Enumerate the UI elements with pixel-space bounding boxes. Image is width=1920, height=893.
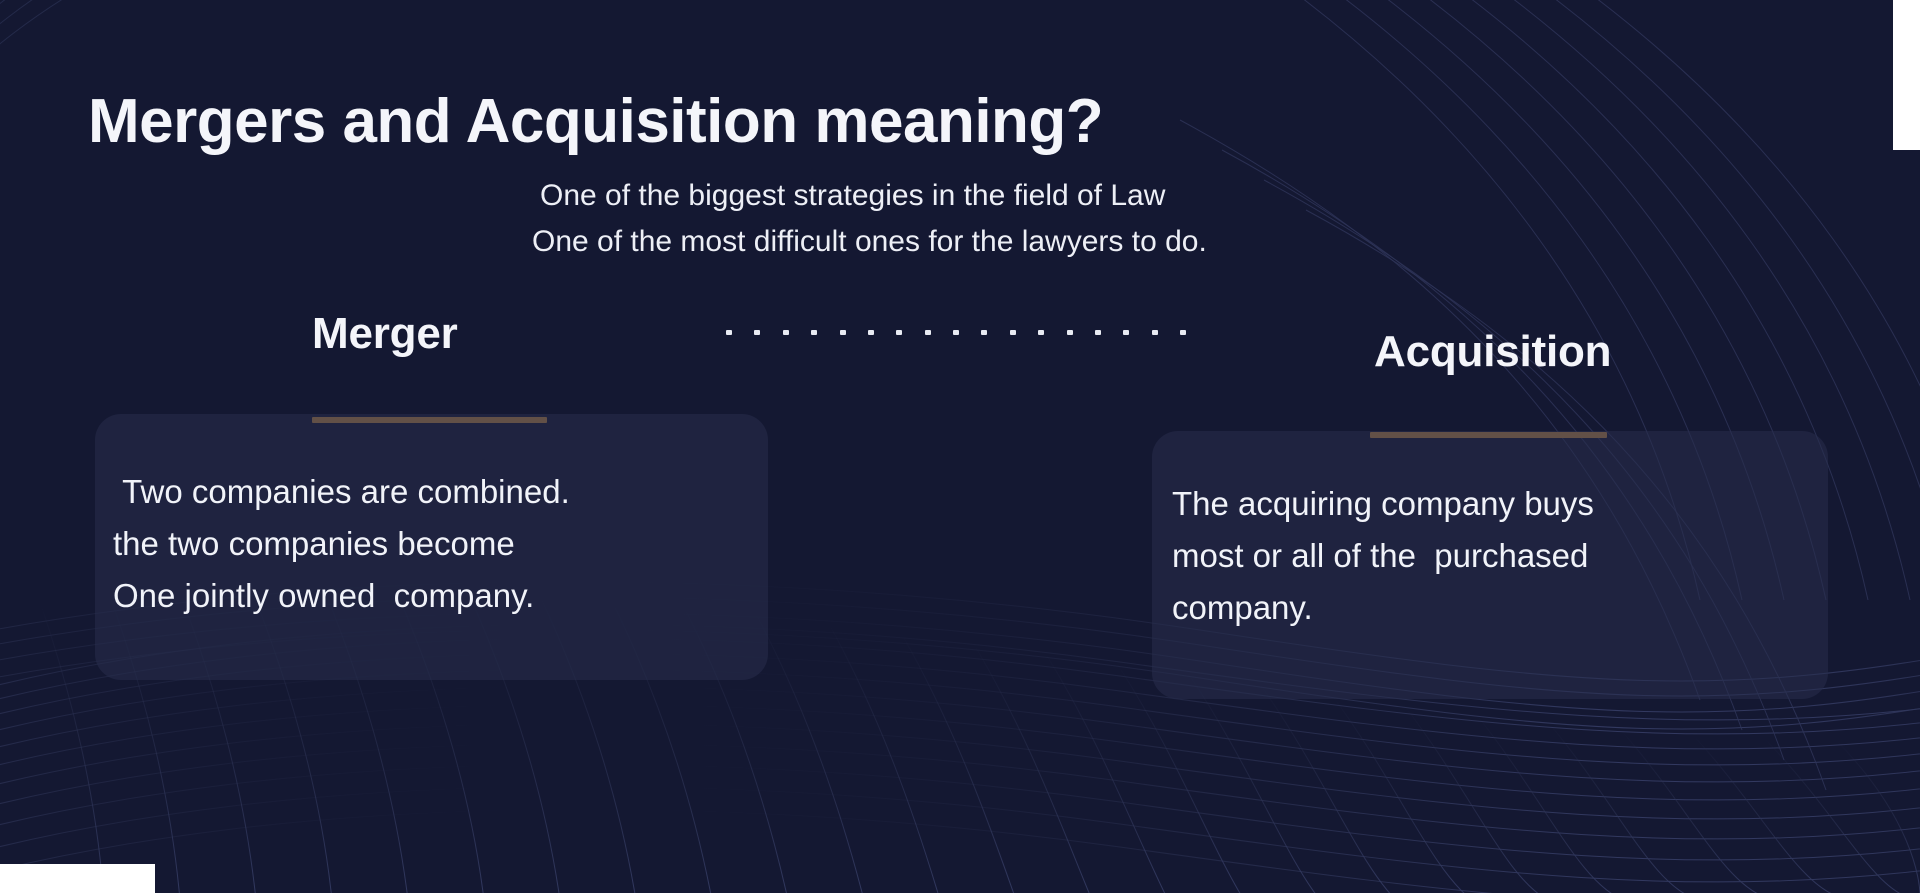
- card-acquisition-text: The acquiring company buys most or all o…: [1172, 478, 1808, 634]
- connector-dot: [896, 330, 902, 335]
- column-heading-acquisition: Acquisition: [1374, 327, 1611, 377]
- page-edge-block-right: [1893, 0, 1920, 150]
- subtitle-line-1: One of the biggest strategies in the fie…: [540, 173, 1207, 219]
- subtitle: One of the biggest strategies in the fie…: [540, 173, 1207, 264]
- connector-dot: [1010, 330, 1016, 335]
- connector-dot: [1038, 330, 1044, 335]
- connector-dot: [981, 330, 987, 335]
- card-merger: Two companies are combined. the two comp…: [95, 414, 768, 680]
- connector-dot: [726, 330, 732, 335]
- page-edge-block-bottom-left: [0, 864, 155, 893]
- connector-dot: [1123, 330, 1129, 335]
- connector-dot: [754, 330, 760, 335]
- slide-canvas: Mergers and Acquisition meaning? One of …: [0, 0, 1920, 893]
- card-acquisition: The acquiring company buys most or all o…: [1152, 431, 1828, 699]
- connector-dot: [1152, 330, 1158, 335]
- column-heading-merger: Merger: [312, 309, 458, 359]
- page-title: Mergers and Acquisition meaning?: [88, 89, 1103, 156]
- connector-dot: [1067, 330, 1073, 335]
- connector-dot: [783, 330, 789, 335]
- connector-dot: [868, 330, 874, 335]
- subtitle-line-2: One of the most difficult ones for the l…: [532, 219, 1207, 265]
- connector-dot: [811, 330, 817, 335]
- connector-dot: [1180, 330, 1186, 335]
- dotted-connector: [726, 330, 1186, 336]
- connector-dot: [953, 330, 959, 335]
- card-merger-text: Two companies are combined. the two comp…: [113, 466, 750, 622]
- connector-dot: [840, 330, 846, 335]
- connector-dot: [1095, 330, 1101, 335]
- connector-dot: [925, 330, 931, 335]
